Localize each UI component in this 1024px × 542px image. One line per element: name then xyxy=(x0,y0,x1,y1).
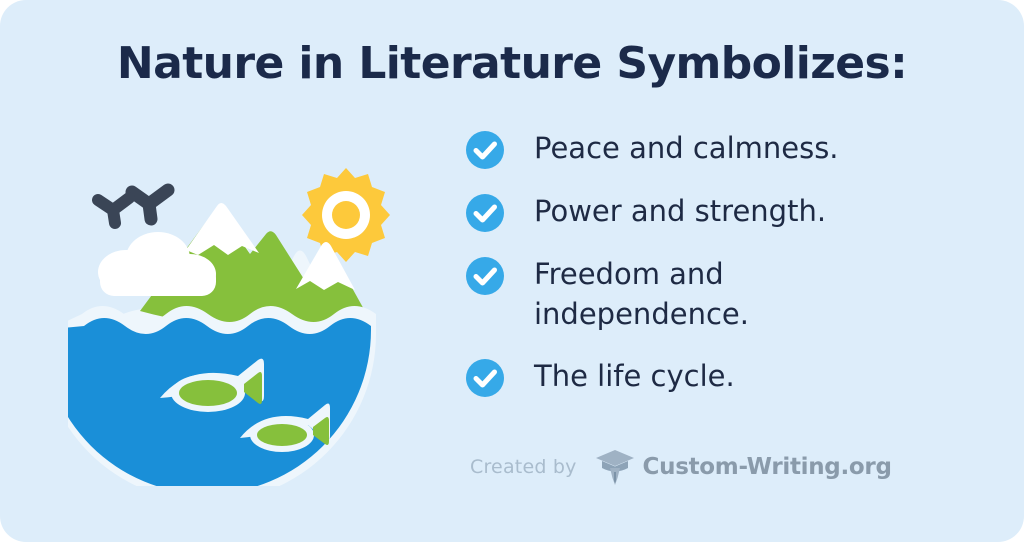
created-by-label: Created by xyxy=(470,456,577,478)
list-item: The life cycle. xyxy=(466,356,986,397)
check-circle-icon xyxy=(466,131,504,169)
check-circle-icon xyxy=(466,359,504,397)
graduation-cap-pen-icon xyxy=(595,448,635,486)
check-circle-icon xyxy=(466,257,504,295)
check-circle-icon xyxy=(466,194,504,232)
sun-icon xyxy=(302,168,390,262)
page-title: Nature in Literature Symbolizes: xyxy=(0,38,1024,89)
bird-icon xyxy=(132,190,168,219)
list-item: Freedom and independence. xyxy=(466,254,986,334)
attribution-footer: Created by Custom-Writing.org xyxy=(470,448,892,486)
nature-scene-illustration xyxy=(68,146,408,486)
list-item-label: Freedom and independence. xyxy=(534,254,864,334)
list-item: Power and strength. xyxy=(466,191,986,232)
list-item-label: The life cycle. xyxy=(534,356,735,396)
bird-icon xyxy=(98,198,129,223)
brand-name: Custom-Writing.org xyxy=(643,454,892,480)
infographic-card: Nature in Literature Symbolizes: xyxy=(0,0,1024,542)
list-item-label: Power and strength. xyxy=(534,191,826,231)
symbol-list: Peace and calmness. Power and strength. … xyxy=(466,128,986,419)
list-item: Peace and calmness. xyxy=(466,128,986,169)
list-item-label: Peace and calmness. xyxy=(534,128,839,168)
